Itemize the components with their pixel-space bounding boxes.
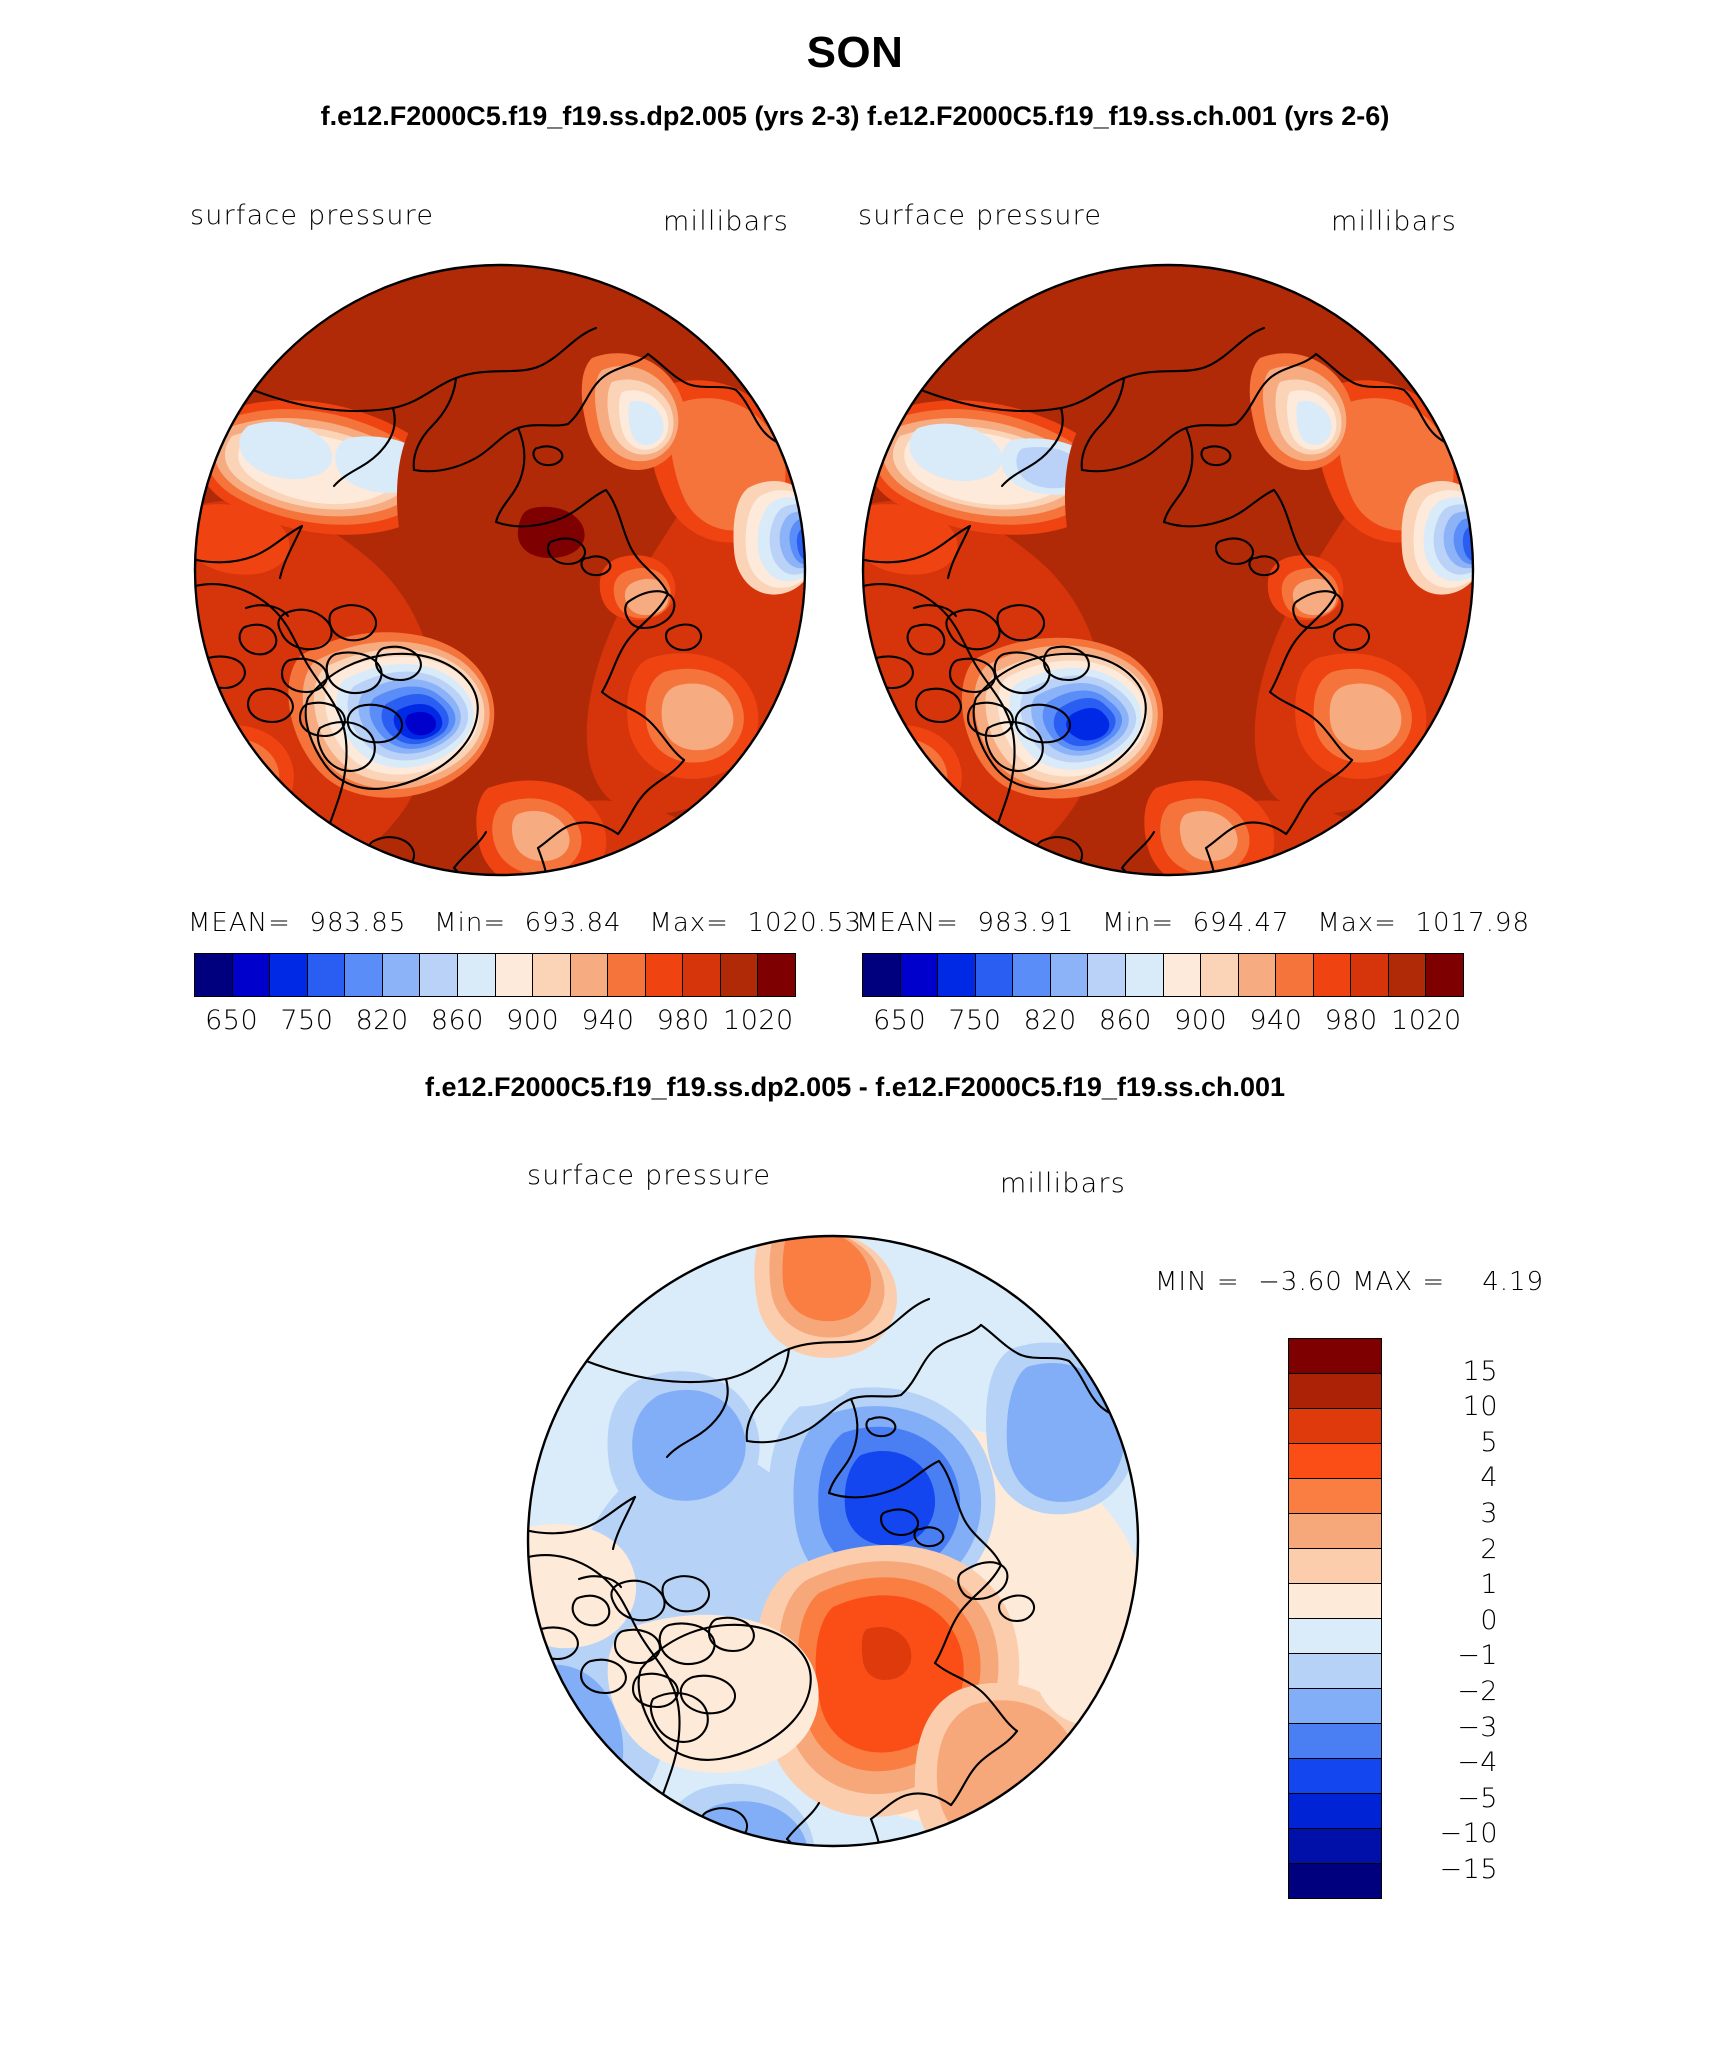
left-colorbar-labels: 6507508208609009409801020 [194,1005,796,1041]
difference-colorbar-swatch [1289,1794,1381,1829]
right-panel-units-label: millibars [1331,206,1457,237]
right-colorbar-labels: 6507508208609009409801020 [862,1005,1464,1041]
colorbar-tick-label: 940 [1249,1005,1302,1036]
difference-colorbar-swatch [1289,1584,1381,1619]
colorbar-tick-label: 860 [431,1005,484,1036]
difference-colorbar-swatch [1289,1339,1381,1374]
colorbar-tick-label: 980 [657,1005,710,1036]
difference-colorbar-tick-label: −2 [1398,1676,1498,1707]
colorbar-swatch [646,954,684,996]
colorbar-swatch [608,954,646,996]
colorbar-swatch [270,954,308,996]
difference-colorbar: 1510543210−1−2−3−4−5−10−15 [1288,1338,1508,1899]
right-panel-variable-label: surface pressure [858,200,1102,231]
difference-colorbar-swatch [1289,1549,1381,1584]
difference-colorbar-tick-label: 2 [1398,1534,1498,1565]
difference-colorbar-labels: 1510543210−1−2−3−4−5−10−15 [1398,1338,1508,1898]
colorbar-tick-label: 820 [356,1005,409,1036]
colorbar-swatch [458,954,496,996]
difference-colorbar-tick-label: −3 [1398,1712,1498,1743]
left-colorbar-swatches [194,953,796,997]
colorbar-tick-label: 980 [1325,1005,1378,1036]
colorbar-tick-label: 900 [1174,1005,1227,1036]
colorbar-swatch [1051,954,1089,996]
colorbar-swatch [195,954,233,996]
colorbar-swatch [420,954,458,996]
difference-colorbar-tick-label: −4 [1398,1747,1498,1778]
difference-colorbar-swatch [1289,1374,1381,1409]
difference-colorbar-swatch [1289,1444,1381,1479]
difference-colorbar-swatches [1288,1338,1382,1899]
difference-colorbar-tick-label: −15 [1398,1854,1498,1885]
colorbar-swatch [233,954,271,996]
colorbar-swatch [1389,954,1427,996]
right-panel-stats: MEAN= 983.91 Min= 694.47 Max= 1017.98 [856,908,1530,938]
colorbar-swatch [721,954,759,996]
colorbar-swatch [496,954,534,996]
difference-colorbar-swatch [1289,1724,1381,1759]
colorbar-tick-label: 650 [205,1005,258,1036]
difference-colorbar-tick-label: 0 [1398,1605,1498,1636]
colorbar-tick-label: 750 [280,1005,333,1036]
difference-colorbar-swatch [1289,1654,1381,1689]
colorbar-swatch [1351,954,1389,996]
left-polar-map [188,258,812,882]
diff-panel-units-label: millibars [1000,1168,1126,1199]
colorbar-swatch [1164,954,1202,996]
difference-colorbar-swatch [1289,1759,1381,1794]
left-panel-units-label: millibars [663,206,789,237]
colorbar-swatch [383,954,421,996]
colorbar-swatch [1239,954,1277,996]
colorbar-swatch [863,954,901,996]
colorbar-tick-label: 820 [1024,1005,1077,1036]
colorbar-swatch [345,954,383,996]
difference-colorbar-tick-label: −1 [1398,1640,1498,1671]
colorbar-swatch [976,954,1014,996]
colorbar-tick-label: 940 [581,1005,634,1036]
right-colorbar: 6507508208609009409801020 [862,953,1464,1041]
colorbar-tick-label: 900 [506,1005,559,1036]
colorbar-swatch [571,954,609,996]
colorbar-tick-label: 750 [948,1005,1001,1036]
colorbar-swatch [1426,954,1463,996]
difference-colorbar-swatch [1289,1689,1381,1724]
colorbar-swatch [1088,954,1126,996]
colorbar-swatch [533,954,571,996]
difference-colorbar-tick-label: 15 [1398,1356,1498,1387]
colorbar-swatch [901,954,939,996]
difference-colorbar-tick-label: 3 [1398,1498,1498,1529]
colorbar-swatch [758,954,795,996]
diff-panel-variable-label: surface pressure [527,1160,771,1191]
difference-colorbar-swatch [1289,1619,1381,1654]
right-colorbar-swatches [862,953,1464,997]
colorbar-tick-label: 1020 [723,1005,794,1036]
diff-panel-stats: MIN = −3.60 MAX = 4.19 [1155,1267,1544,1297]
difference-colorbar-tick-label: 4 [1398,1462,1498,1493]
difference-colorbar-swatch [1289,1864,1381,1898]
colorbar-swatch [938,954,976,996]
page-title: SON [0,28,1710,78]
colorbar-swatch [1276,954,1314,996]
difference-colorbar-swatch [1289,1409,1381,1444]
colorbar-swatch [1013,954,1051,996]
colorbar-swatch [1201,954,1239,996]
difference-colorbar-tick-label: −10 [1398,1818,1498,1849]
colorbar-tick-label: 650 [873,1005,926,1036]
difference-colorbar-tick-label: 10 [1398,1391,1498,1422]
colorbar-swatch [683,954,721,996]
difference-colorbar-tick-label: −5 [1398,1783,1498,1814]
difference-colorbar-tick-label: 5 [1398,1427,1498,1458]
colorbar-swatch [308,954,346,996]
colorbar-tick-label: 1020 [1391,1005,1462,1036]
difference-colorbar-swatch [1289,1479,1381,1514]
difference-title: f.e12.F2000C5.f19_f19.ss.dp2.005 - f.e12… [0,1072,1710,1103]
left-panel-variable-label: surface pressure [190,200,434,231]
difference-polar-map [521,1229,1145,1853]
left-colorbar: 6507508208609009409801020 [194,953,796,1041]
colorbar-swatch [1314,954,1352,996]
difference-colorbar-tick-label: 1 [1398,1569,1498,1600]
colorbar-swatch [1126,954,1164,996]
colorbar-tick-label: 860 [1099,1005,1152,1036]
difference-colorbar-swatch [1289,1514,1381,1549]
difference-colorbar-swatch [1289,1829,1381,1864]
right-polar-map [856,258,1480,882]
page-subtitle: f.e12.F2000C5.f19_f19.ss.dp2.005 (yrs 2-… [0,101,1710,132]
left-panel-stats: MEAN= 983.85 Min= 693.84 Max= 1020.53 [188,908,862,938]
